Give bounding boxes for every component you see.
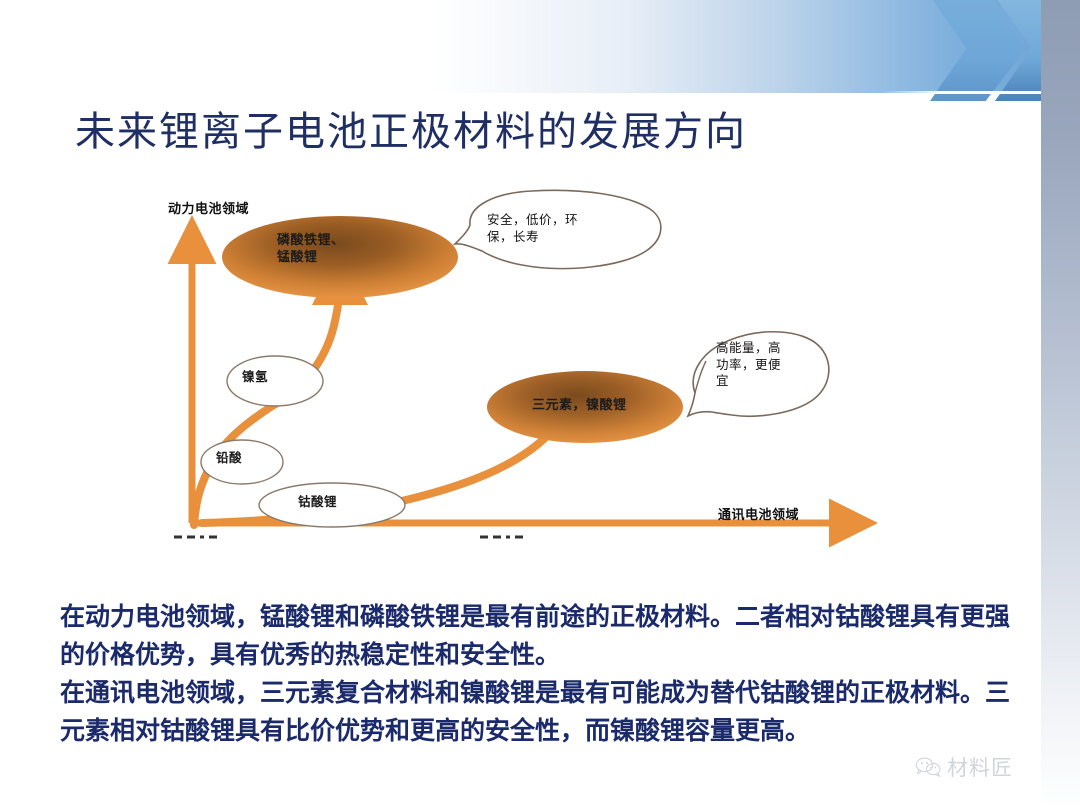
body-text-block: 在动力电池领域，锰酸锂和磷酸铁锂是最有前途的正极材料。二者相对钴酸锂具有更强的价… [60, 598, 1020, 750]
development-direction-diagram: 动力电池领域 通讯电池领域 磷酸铁锂、 锰酸锂 三元素，镍酸锂 安全，低价，环 … [150, 185, 880, 555]
page-title: 未来锂离子电池正极材料的发展方向 [75, 99, 747, 157]
ellipse-label-comm: 三元素，镍酸锂 [532, 397, 627, 414]
x-axis-label: 通讯电池领域 [718, 507, 799, 524]
stage-label-licoo2: 钴酸锂 [298, 494, 337, 511]
stage-label-nimh: 镍氢 [242, 369, 268, 386]
wechat-icon [915, 756, 941, 778]
callout-label-power: 安全，低价，环 保，长寿 [487, 212, 578, 245]
watermark: 材料匠 [915, 752, 1013, 782]
watermark-label: 材料匠 [947, 752, 1013, 782]
callout-label-comm: 高能量，高 功率，更便 宜 [716, 340, 781, 390]
header-gradient-band [0, 0, 1080, 93]
right-edge-gradient-band [1041, 0, 1080, 810]
body-paragraph-1: 在动力电池领域，锰酸锂和磷酸铁锂是最有前途的正极材料。二者相对钴酸锂具有更强的价… [60, 598, 1020, 674]
slide-canvas: 未来锂离子电池正极材料的发展方向 [0, 0, 1080, 810]
y-axis-label: 动力电池领域 [168, 201, 249, 218]
stage-label-lead-acid: 铅酸 [216, 450, 242, 467]
body-paragraph-2: 在通讯电池领域，三元素复合材料和镍酸锂是最有可能成为替代钴酸锂的正极材料。三元素… [60, 674, 1020, 750]
ellipse-label-power: 磷酸铁锂、 锰酸锂 [277, 232, 345, 266]
